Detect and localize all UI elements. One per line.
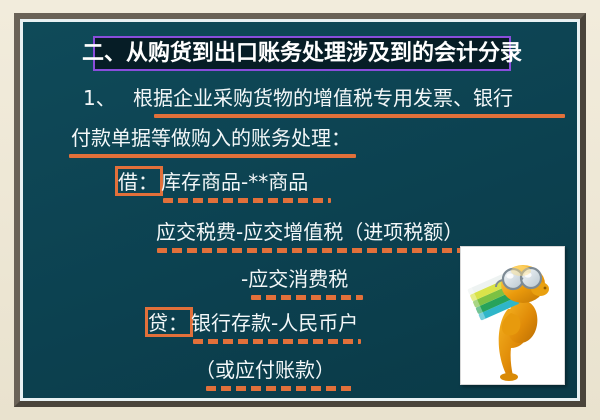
underline-entry-0	[163, 198, 331, 203]
illustration-image	[460, 246, 565, 385]
underline-paragraph-line-1	[154, 114, 565, 118]
section-title-box: 二、从购货到出口账务处理涉及到的会计分录	[93, 36, 511, 71]
slide-canvas: 二、从购货到出口账务处理涉及到的会计分录 1、 根据企业采购货物的增值税专用发票…	[0, 0, 600, 420]
slide-frame-inner-rule: 二、从购货到出口账务处理涉及到的会计分录 1、 根据企业采购货物的增值税专用发票…	[20, 19, 580, 401]
underline-entry-1	[157, 248, 462, 253]
item-number: 1、	[83, 88, 116, 108]
entry-3-account: 银行存款-人民币户	[191, 313, 358, 333]
entry-0-tag: 借：	[118, 172, 158, 192]
paragraph-line-1: 根据企业采购货物的增值税专用发票、银行	[133, 88, 513, 108]
presentation-board: 二、从购货到出口账务处理涉及到的会计分录 1、 根据企业采购货物的增值税专用发票…	[23, 22, 577, 398]
underline-entry-3	[193, 339, 361, 344]
underline-paragraph-line-2	[69, 154, 356, 158]
entry-2-account: -应交消费税	[241, 269, 348, 289]
entry-0-account: 库存商品-**商品	[161, 172, 308, 192]
paragraph-line-2: 付款单据等做购入的账务处理：	[71, 128, 351, 148]
entry-4-account: （或应付账款）	[195, 360, 335, 380]
underline-entry-2	[251, 295, 363, 300]
entry-1-account: 应交税费-应交增值税（进项税额）	[156, 222, 463, 242]
entry-3-tag: 贷：	[148, 313, 188, 333]
slide-frame-border: 二、从购货到出口账务处理涉及到的会计分录 1、 根据企业采购货物的增值税专用发票…	[14, 13, 586, 407]
orange-character-holding-books-icon	[461, 247, 564, 384]
underline-entry-4	[206, 386, 352, 391]
page-title: 二、从购货到出口账务处理涉及到的会计分录	[82, 43, 522, 65]
